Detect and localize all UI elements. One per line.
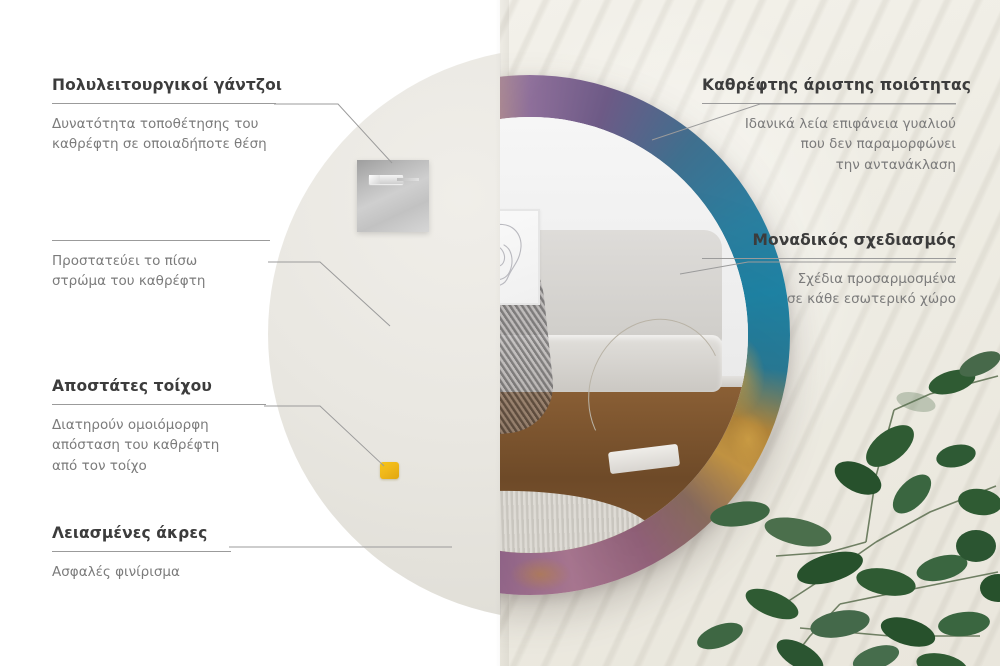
metal-hook-plate bbox=[357, 160, 429, 232]
callout-rule bbox=[702, 103, 956, 104]
hook-notch bbox=[369, 175, 380, 184]
line-art-face-poster bbox=[500, 209, 540, 305]
callout-wall-spacers: Αποστάτες τοίχου Διατηρούν ομοιόμορφη απ… bbox=[52, 377, 266, 476]
callout-title: Πολυλειτουργικοί γάντζοι bbox=[52, 76, 276, 94]
callout-title: Αποστάτες τοίχου bbox=[52, 377, 266, 395]
callout-top-quality-mirror: Καθρέφτης άριστης ποιότητας Ιδανικά λεία… bbox=[702, 76, 956, 175]
yellow-wall-spacer bbox=[380, 462, 399, 479]
callout-desc: Ιδανικά λεία επιφάνεια γυαλιού που δεν π… bbox=[702, 114, 956, 175]
callout-desc: Προστατεύει το πίσω στρώμα του καθρέφτη bbox=[52, 251, 270, 292]
callout-unique-design: Μοναδικός σχεδιασμός Σχέδια προσαρμοσμέν… bbox=[702, 231, 956, 310]
callout-protective-membrane: Προστατεύει το πίσω στρώμα του καθρέφτη bbox=[52, 231, 270, 292]
callout-rule bbox=[702, 258, 956, 259]
hook-tail bbox=[397, 178, 419, 181]
infographic-canvas: Πολυλειτουργικοί γάντζοι Δυνατότητα τοπο… bbox=[0, 0, 1000, 666]
callout-title: Λειασμένες άκρες bbox=[52, 524, 231, 542]
callout-multifunctional-hooks: Πολυλειτουργικοί γάντζοι Δυνατότητα τοπο… bbox=[52, 76, 276, 155]
callout-rule bbox=[52, 103, 276, 104]
callout-rule bbox=[52, 404, 266, 405]
mirror-glass bbox=[500, 117, 748, 553]
face-line-art-icon bbox=[500, 211, 534, 299]
callout-desc: Ασφαλές φινίρισμα bbox=[52, 562, 231, 582]
callout-desc: Δυνατότητα τοποθέτησης του καθρέφτη σε ο… bbox=[52, 114, 276, 155]
callout-rule bbox=[52, 551, 231, 552]
callout-polished-edges: Λειασμένες άκρες Ασφαλές φινίρισμα bbox=[52, 524, 231, 582]
callout-desc: Σχέδια προσαρμοσμένα σε κάθε εσωτερικό χ… bbox=[702, 269, 956, 310]
callout-title: Καθρέφτης άριστης ποιότητας bbox=[702, 76, 956, 94]
mirror-backer-disc bbox=[268, 48, 501, 620]
callout-rule bbox=[52, 240, 270, 241]
callout-title: Μοναδικός σχεδιασμός bbox=[702, 231, 956, 249]
callout-desc: Διατηρούν ομοιόμορφη απόσταση του καθρέφ… bbox=[52, 415, 266, 476]
